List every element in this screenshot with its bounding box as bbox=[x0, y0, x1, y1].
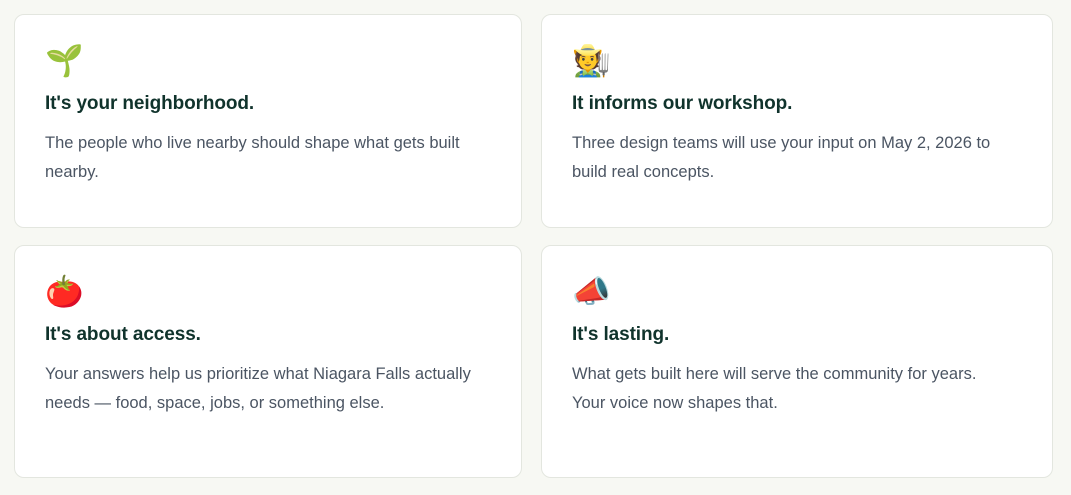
value-card-title: It informs our workshop. bbox=[572, 91, 1022, 117]
value-card-title: It's about access. bbox=[45, 322, 491, 348]
value-card-title: It's lasting. bbox=[572, 322, 1022, 348]
value-card-body: What gets built here will serve the comm… bbox=[572, 360, 1012, 418]
value-card-access: 🍅 It's about access. Your answers help u… bbox=[14, 245, 522, 478]
value-card-title: It's your neighborhood. bbox=[45, 91, 491, 117]
megaphone-icon: 📣 bbox=[572, 272, 1022, 314]
value-card-workshop: 🧑‍🌾 It informs our workshop. Three desig… bbox=[541, 14, 1053, 228]
farmer-icon: 🧑‍🌾 bbox=[572, 41, 1022, 83]
value-proposition-grid: 🌱 It's your neighborhood. The people who… bbox=[0, 0, 1071, 495]
value-card-neighborhood: 🌱 It's your neighborhood. The people who… bbox=[14, 14, 522, 228]
value-card-lasting: 📣 It's lasting. What gets built here wil… bbox=[541, 245, 1053, 478]
seedling-icon: 🌱 bbox=[45, 41, 491, 83]
tomato-icon: 🍅 bbox=[45, 272, 491, 314]
value-card-body: Three design teams will use your input o… bbox=[572, 129, 1012, 187]
value-card-body: Your answers help us prioritize what Nia… bbox=[45, 360, 485, 418]
value-card-body: The people who live nearby should shape … bbox=[45, 129, 485, 187]
